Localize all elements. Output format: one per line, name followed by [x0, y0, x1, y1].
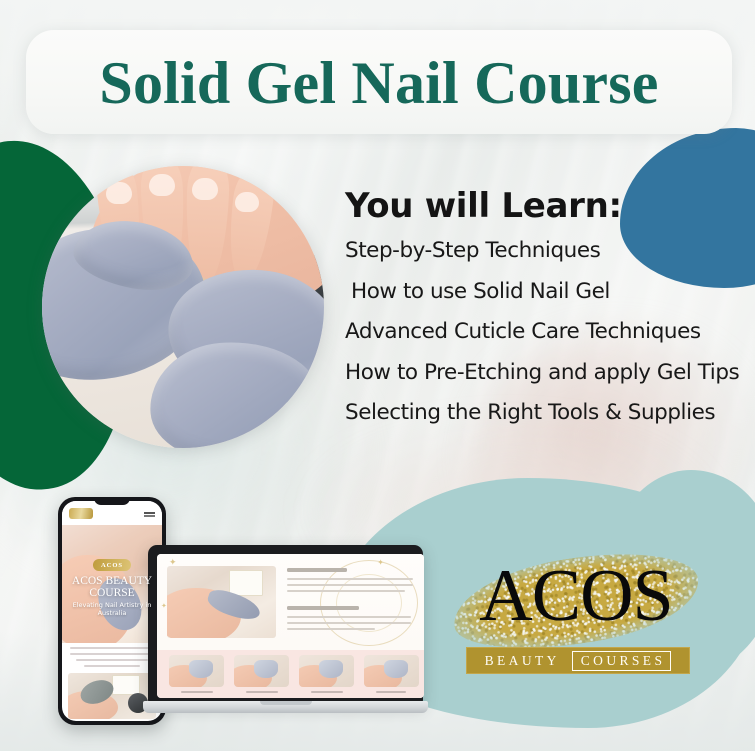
sparkle-icon: ✦ [377, 558, 384, 567]
laptop-camera-notch [271, 547, 301, 553]
laptop-thumbnail [234, 655, 289, 687]
laptop-mockup: ✦ ✦ ✦ [143, 545, 428, 725]
laptop-section-heading [287, 568, 347, 572]
list-item: Advanced Cuticle Care Techniques [345, 321, 747, 343]
laptop-hero-image [167, 566, 276, 638]
laptop-page-top: ✦ ✦ ✦ [157, 554, 424, 650]
learn-list: Step-by-Step Techniques How to use Solid… [345, 240, 747, 443]
laptop-thumbnail [169, 655, 224, 687]
learn-heading: You will Learn: [345, 186, 622, 226]
laptop-thumbnail [299, 655, 354, 687]
laptop-product-card [229, 570, 263, 596]
hamburger-menu-icon [144, 512, 155, 514]
laptop-thumbnail [364, 655, 419, 687]
photo-nail [106, 182, 132, 204]
phone-product-card [112, 675, 140, 695]
logo-tagline-bar: BEAUTY COURSES [466, 647, 690, 674]
phone-hero-subheading: Elevating Nail Artistry in Australia [62, 601, 162, 617]
logo-tagline-courses: COURSES [572, 651, 672, 671]
laptop-lid: ✦ ✦ ✦ [148, 545, 423, 703]
page-title: Solid Gel Nail Course [26, 38, 732, 128]
photo-nail [149, 174, 175, 196]
acos-logo: ACOS BEAUTY COURSES [446, 548, 706, 678]
list-item: How to use Solid Nail Gel [345, 281, 747, 303]
laptop-section-heading [287, 606, 359, 610]
laptop-thumbnail-strip [157, 650, 424, 698]
phone-hero-heading: ACOS BEAUTY COURSE [62, 575, 162, 599]
logo-wordmark: ACOS [446, 558, 706, 634]
hero-photo-circle [42, 166, 324, 448]
phone-logo-icon [69, 508, 93, 519]
phone-notch [94, 497, 130, 505]
poster-canvas: Solid Gel Nail Course You will Learn: St… [0, 0, 755, 751]
phone-acos-badge: ACOS [93, 559, 131, 571]
laptop-screen: ✦ ✦ ✦ [157, 554, 424, 698]
list-item: Selecting the Right Tools & Supplies [345, 402, 747, 424]
list-item: Step-by-Step Techniques [345, 240, 747, 262]
photo-nail [192, 178, 218, 200]
list-item: How to Pre-Etching and apply Gel Tips [345, 362, 747, 384]
photo-nail [235, 192, 259, 212]
logo-tagline-beauty: BEAUTY [485, 653, 560, 669]
laptop-base-notch [260, 701, 312, 705]
